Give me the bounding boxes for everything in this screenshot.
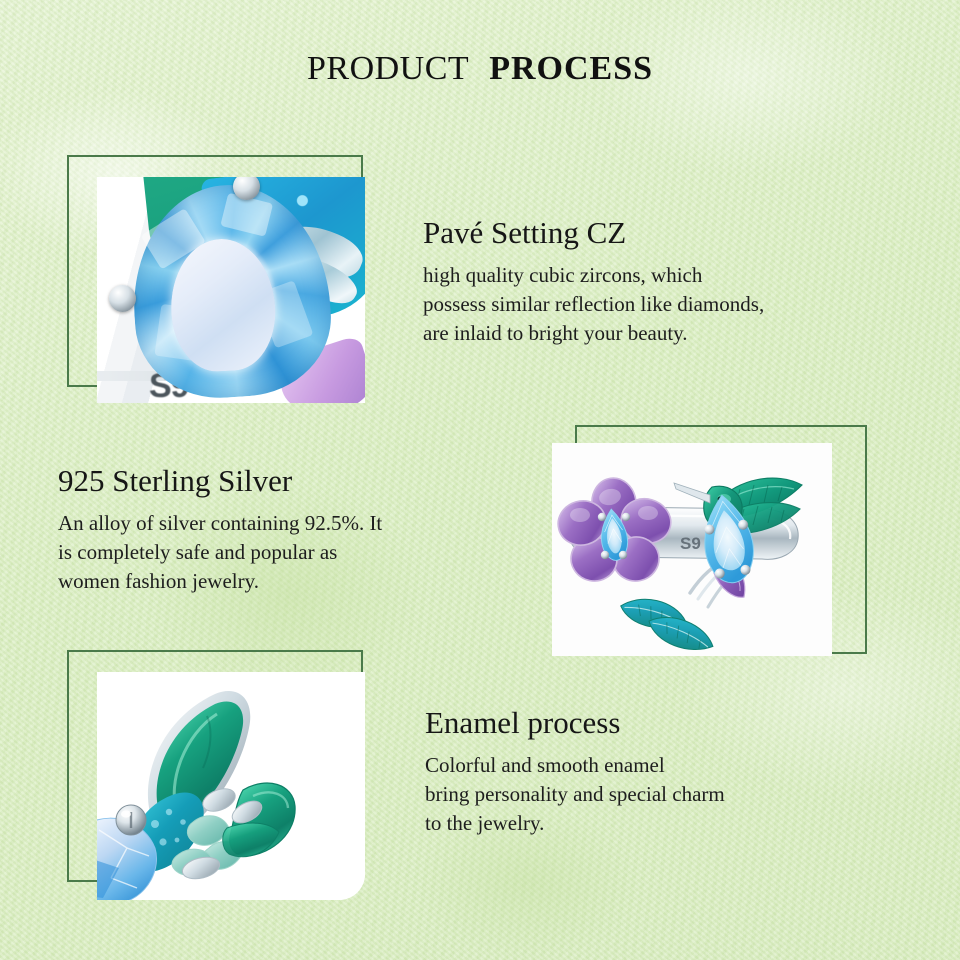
- heading-pave: Pavé Setting CZ: [423, 215, 913, 251]
- heading-sterling-silver: 925 Sterling Silver: [58, 463, 478, 499]
- page-title-bold: PROCESS: [489, 50, 653, 87]
- body-line: bring personality and special charm: [425, 780, 885, 809]
- body-line: Colorful and smooth enamel: [425, 751, 885, 780]
- silver-prong-left: [109, 285, 136, 312]
- body-line: high quality cubic zircons, which: [423, 261, 913, 290]
- text-block-sterling-silver: 925 Sterling Silver An alloy of silver c…: [58, 463, 478, 596]
- ring-illustration: S9: [552, 443, 832, 656]
- svg-text:S9: S9: [680, 534, 701, 553]
- photo-hummingbird-ring: S9: [552, 443, 832, 656]
- frame-line-bottom-stub: [67, 880, 101, 882]
- photo-enamel-process: [97, 672, 365, 900]
- body-line: to the jewelry.: [425, 809, 885, 838]
- frame-line-right-stub: [361, 650, 363, 674]
- page-title-light: PRODUCT: [307, 50, 469, 87]
- body-pave: high quality cubic zircons, which posses…: [423, 261, 913, 348]
- body-line: women fashion jewelry.: [58, 567, 478, 596]
- page-title: PRODUCTPROCESS: [0, 50, 960, 88]
- frame-line-left: [67, 650, 69, 882]
- body-enamel: Colorful and smooth enamel bring persona…: [425, 751, 885, 838]
- frame-line-right: [865, 425, 867, 654]
- body-line: possess similar reflection like diamonds…: [423, 290, 913, 319]
- frame-line-top: [67, 155, 363, 157]
- text-block-enamel: Enamel process Colorful and smooth ename…: [425, 705, 885, 838]
- body-sterling-silver: An alloy of silver containing 92.5%. It …: [58, 509, 478, 596]
- frame-line-left-stub: [575, 425, 577, 445]
- photo-pave-setting-cz: S9: [97, 177, 365, 403]
- frame-line-left: [67, 155, 69, 387]
- body-line: An alloy of silver containing 92.5%. It: [58, 509, 478, 538]
- body-line: are inlaid to bright your beauty.: [423, 319, 913, 348]
- heading-enamel: Enamel process: [425, 705, 885, 741]
- enamel-wing-illustration: [97, 672, 365, 900]
- body-line: is completely safe and popular as: [58, 538, 478, 567]
- frame-line-right-stub: [361, 155, 363, 179]
- frame-line-top: [575, 425, 867, 427]
- frame-line-bottom-stub: [67, 385, 101, 387]
- text-block-pave: Pavé Setting CZ high quality cubic zirco…: [423, 215, 913, 348]
- frame-line-top: [67, 650, 363, 652]
